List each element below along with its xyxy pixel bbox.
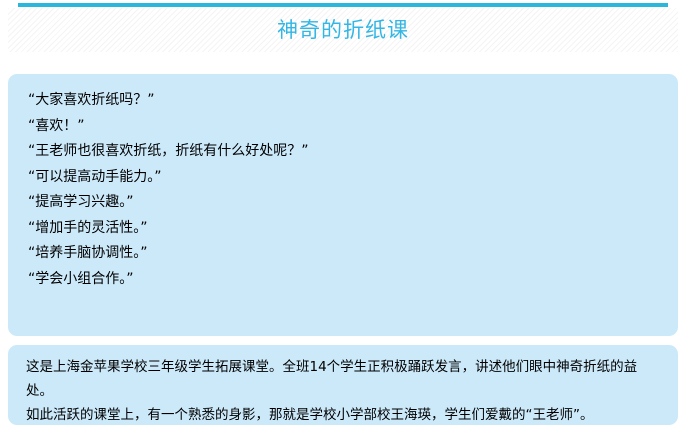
- page-header: 神奇的折纸课: [0, 0, 686, 54]
- dialogue-line: “可以提高动手能力。”: [28, 165, 658, 191]
- page-root: 神奇的折纸课 “大家喜欢折纸吗？” “喜欢！” “王老师也很喜欢折纸，折纸有什么…: [0, 0, 686, 432]
- dialogue-line: “提高学习兴趣。”: [28, 190, 658, 216]
- header-texture-band: 神奇的折纸课: [8, 8, 678, 52]
- dialogue-line: “学会小组合作。”: [28, 267, 658, 293]
- caption-paragraph: 如此活跃的课堂上，有一个熟悉的身影，那就是学校小学部校王海瑛，学生们爱戴的“王老…: [26, 403, 660, 427]
- dialogue-line: “喜欢！”: [28, 114, 658, 140]
- dialogue-line: “王老师也很喜欢折纸，折纸有什么好处呢？”: [28, 139, 658, 165]
- page-title: 神奇的折纸课: [8, 16, 678, 44]
- caption-panel: 这是上海金苹果学校三年级学生拓展课堂。全班14个学生正积极踊跃发言，讲述他们眼中…: [8, 345, 678, 425]
- dialogue-line: “增加手的灵活性。”: [28, 216, 658, 242]
- dialogue-panel: “大家喜欢折纸吗？” “喜欢！” “王老师也很喜欢折纸，折纸有什么好处呢？” “…: [8, 74, 678, 336]
- header-accent-rule: [18, 3, 668, 7]
- caption-paragraph: 这是上海金苹果学校三年级学生拓展课堂。全班14个学生正积极踊跃发言，讲述他们眼中…: [26, 355, 660, 403]
- dialogue-line: “大家喜欢折纸吗？”: [28, 88, 658, 114]
- dialogue-line: “培养手脑协调性。”: [28, 241, 658, 267]
